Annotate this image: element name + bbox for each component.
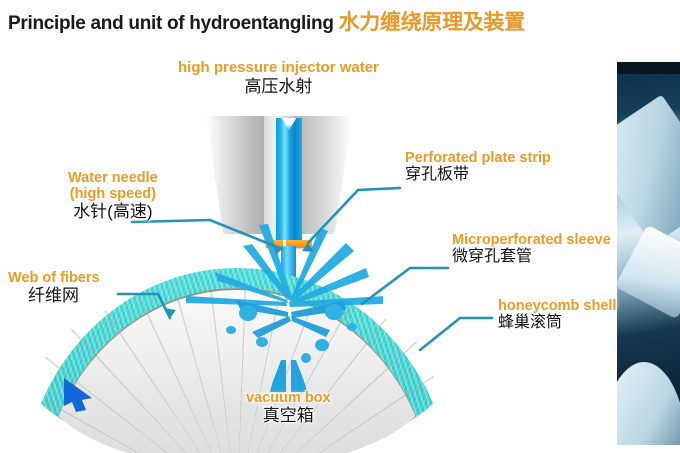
label-vacuum-box-cn: 真空箱	[246, 406, 331, 425]
label-microperforated-sleeve-en: Microperforated sleeve	[452, 232, 611, 248]
label-perforated-plate-strip-en: Perforated plate strip	[405, 150, 551, 166]
pointer-honeycomb-shell	[420, 318, 492, 350]
label-honeycomb-shell-en: honeycomb shell	[498, 298, 616, 314]
label-web-of-fibers-cn: 纤维网	[8, 286, 100, 305]
housing-left-wall	[206, 116, 264, 234]
title-english: Principle and unit of hydroentangling	[8, 13, 334, 34]
label-high-pressure-injector-water: high pressure injector water 高压水射	[178, 60, 379, 96]
page-title: Principle and unit of hydroentangling 水力…	[8, 6, 525, 36]
label-water-needle: Water needle (high speed) 水针(高速)	[68, 170, 158, 222]
label-high-pressure-injector-water-cn: 高压水射	[178, 77, 379, 96]
label-web-of-fibers-en: Web of fibers	[8, 270, 100, 286]
label-vacuum-box: vacuum box 真空箱	[246, 390, 331, 425]
machine-photo	[617, 62, 680, 445]
diagram-canvas: Principle and unit of hydroentangling 水力…	[0, 0, 680, 453]
honeycomb-drum-edge	[40, 288, 434, 453]
title-chinese: 水力缠绕原理及装置	[339, 11, 525, 34]
label-high-pressure-injector-water-en: high pressure injector water	[178, 60, 379, 77]
label-web-of-fibers: Web of fibers 纤维网	[8, 270, 100, 305]
label-microperforated-sleeve: Microperforated sleeve 微穿孔套管	[452, 232, 611, 266]
label-water-needle-cn: 水针(高速)	[68, 202, 158, 221]
label-microperforated-sleeve-cn: 微穿孔套管	[452, 248, 611, 266]
label-water-needle-en-line1: Water needle	[68, 170, 158, 186]
label-perforated-plate-strip: Perforated plate strip 穿孔板带	[405, 150, 551, 184]
label-honeycomb-shell: honeycomb shell 蜂巢滚筒	[498, 298, 616, 332]
water-jet-column	[276, 118, 302, 244]
pointer-microperforated-sleeve	[362, 268, 448, 304]
photo-top-band	[617, 62, 680, 74]
housing-right-wall	[294, 116, 352, 234]
label-vacuum-box-en: vacuum box	[246, 390, 331, 406]
label-honeycomb-shell-cn: 蜂巢滚筒	[498, 314, 616, 332]
label-perforated-plate-strip-cn: 穿孔板带	[405, 166, 551, 184]
label-water-needle-en-line2: (high speed)	[68, 186, 158, 202]
